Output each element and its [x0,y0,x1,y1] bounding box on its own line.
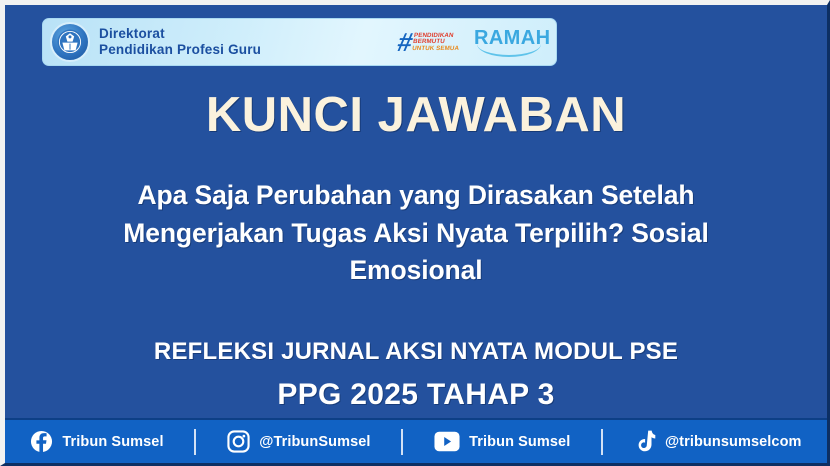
poster-card: Direktorat Pendidikan Profesi Guru # PEN… [0,0,830,466]
banner-line-2: Pendidikan Profesi Guru [99,42,261,58]
banner-line-1: Direktorat [99,26,261,42]
hash-symbol-icon: # [395,29,413,55]
subtitle-program: PPG 2025 TAHAP 3 [5,378,827,412]
question-text: Apa Saja Perubahan yang Dirasakan Setela… [63,177,769,290]
tut-wuri-handayani-emblem-icon [50,22,90,62]
social-divider [401,429,403,455]
banner-text-block: Direktorat Pendidikan Profesi Guru [99,26,261,57]
facebook-icon [30,430,53,453]
social-label-instagram: @TribunSumsel [259,434,370,450]
ramah-logo: RAMAH [474,27,546,57]
ramah-smile-icon [477,44,541,57]
hashtag-words: PENDIDIKAN BERMUTU UNTUK SEMUA [412,33,461,52]
hashtag-word-3: UNTUK SEMUA [412,45,460,51]
social-label-tiktok: @tribunsumselcom [665,434,802,450]
social-label-youtube: Tribun Sumsel [469,434,570,450]
social-divider [601,429,603,455]
subtitle-module: REFLEKSI JURNAL AKSI NYATA MODUL PSE [5,338,827,366]
tiktok-icon [634,430,656,454]
program-banner: Direktorat Pendidikan Profesi Guru # PEN… [42,18,557,66]
poster-stage: Direktorat Pendidikan Profesi Guru # PEN… [5,5,827,463]
page-title: KUNCI JAWABAN [5,91,827,140]
social-divider [194,429,196,455]
instagram-icon [227,430,250,453]
social-item-youtube[interactable]: Tribun Sumsel [434,431,570,452]
social-item-facebook[interactable]: Tribun Sumsel [30,430,163,453]
hashtag-campaign-logo: # PENDIDIKAN BERMUTU UNTUK SEMUA [398,29,460,55]
social-media-bar: Tribun Sumsel @TribunSumsel Tribun Sumse… [5,418,827,463]
social-item-instagram[interactable]: @TribunSumsel [227,430,370,453]
youtube-icon [434,431,460,452]
social-item-tiktok[interactable]: @tribunsumselcom [634,430,802,454]
social-label-facebook: Tribun Sumsel [62,434,163,450]
